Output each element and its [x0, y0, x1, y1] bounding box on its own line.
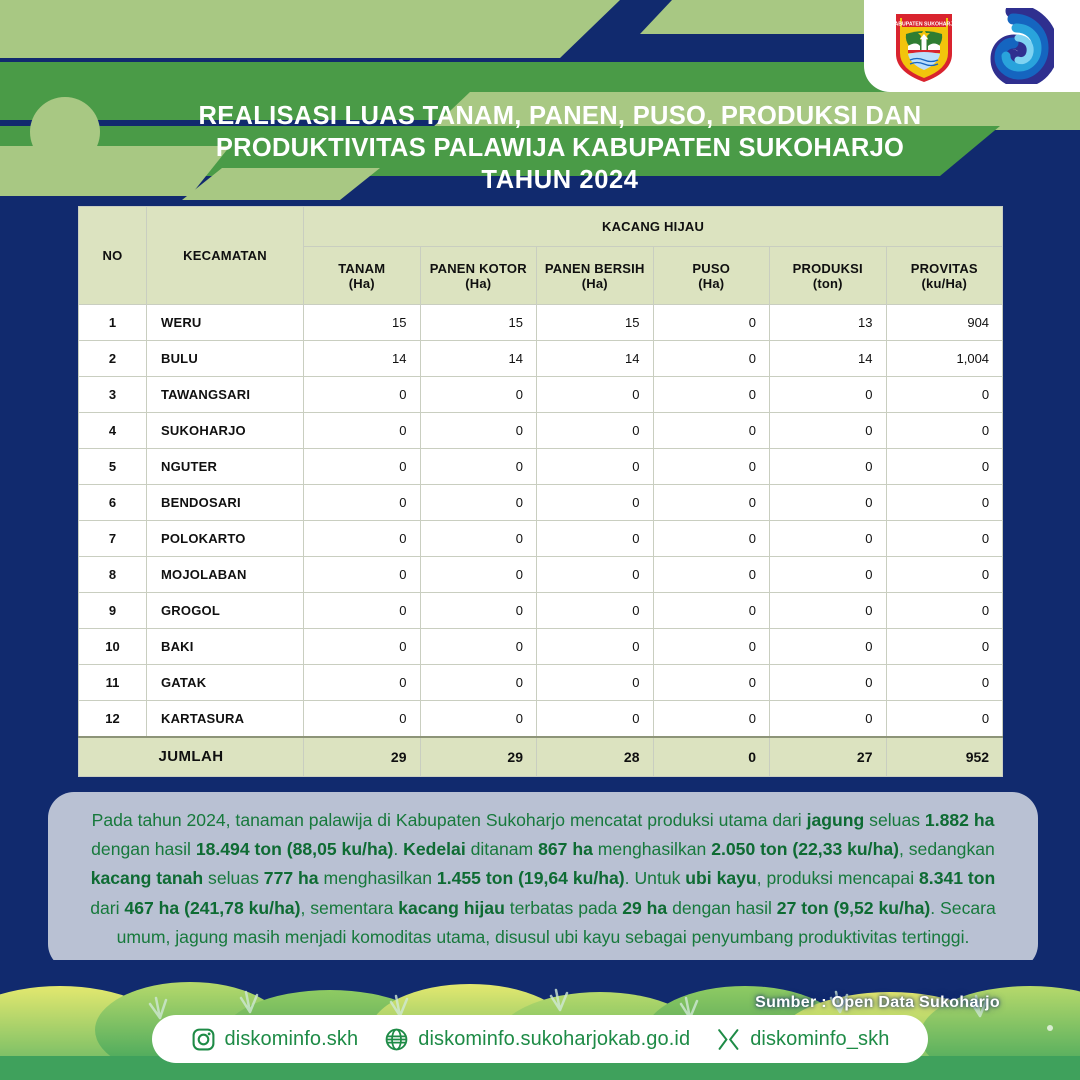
cell-value-4: 0	[770, 377, 887, 413]
header-no: NO	[79, 207, 147, 305]
cell-value-5: 1,004	[886, 341, 1003, 377]
cell-no: 12	[79, 701, 147, 737]
cell-value-1: 0	[420, 593, 537, 629]
total-value-5: 952	[886, 737, 1003, 777]
table-total-row: JUMLAH292928027952	[79, 737, 1003, 777]
cell-value-4: 0	[770, 557, 887, 593]
total-label: JUMLAH	[79, 737, 304, 777]
cell-value-2: 0	[537, 521, 654, 557]
cell-value-4: 0	[770, 413, 887, 449]
cell-value-4: 14	[770, 341, 887, 377]
kominfo-logo	[972, 8, 1054, 84]
cell-value-0: 0	[304, 377, 421, 413]
cell-no: 4	[79, 413, 147, 449]
header-panen-bersih: PANEN BERSIH (Ha)	[537, 247, 654, 305]
cell-value-4: 0	[770, 701, 887, 737]
table-row: 1WERU151515013904	[79, 305, 1003, 341]
cell-kecamatan: GATAK	[147, 665, 304, 701]
cell-value-2: 0	[537, 485, 654, 521]
cell-value-1: 0	[420, 413, 537, 449]
cell-value-0: 0	[304, 557, 421, 593]
cell-value-1: 0	[420, 665, 537, 701]
cell-value-0: 0	[304, 629, 421, 665]
cell-value-3: 0	[653, 449, 770, 485]
table-row: 12KARTASURA000000	[79, 701, 1003, 737]
cell-value-3: 0	[653, 521, 770, 557]
cell-no: 10	[79, 629, 147, 665]
table-row: 4SUKOHARJO000000	[79, 413, 1003, 449]
table-row: 6BENDOSARI000000	[79, 485, 1003, 521]
cell-value-0: 0	[304, 413, 421, 449]
title-line-3: TAHUN 2024	[120, 164, 1000, 196]
cell-value-4: 0	[770, 629, 887, 665]
cell-value-1: 0	[420, 449, 537, 485]
cell-value-1: 0	[420, 629, 537, 665]
cell-kecamatan: NGUTER	[147, 449, 304, 485]
cell-value-2: 0	[537, 557, 654, 593]
total-value-2: 28	[537, 737, 654, 777]
cell-no: 1	[79, 305, 147, 341]
cell-value-1: 15	[420, 305, 537, 341]
kabupaten-sukoharjo-emblem: KABUPATEN SUKOHARJO	[890, 8, 958, 84]
cell-value-1: 0	[420, 485, 537, 521]
cell-value-2: 14	[537, 341, 654, 377]
social-item-instagram[interactable]: diskominfo.skh	[191, 1027, 359, 1052]
cell-no: 2	[79, 341, 147, 377]
cell-kecamatan: BAKI	[147, 629, 304, 665]
cell-value-5: 0	[886, 485, 1003, 521]
table-body: 1WERU1515150139042BULU1414140141,0043TAW…	[79, 305, 1003, 777]
cell-value-5: 0	[886, 413, 1003, 449]
cell-kecamatan: BULU	[147, 341, 304, 377]
total-value-0: 29	[304, 737, 421, 777]
cell-value-0: 0	[304, 665, 421, 701]
source-label: Sumber : Open Data Sukoharjo	[755, 994, 1000, 1012]
cell-value-2: 0	[537, 593, 654, 629]
cell-value-5: 0	[886, 521, 1003, 557]
cell-value-3: 0	[653, 629, 770, 665]
header-kecamatan: KECAMATAN	[147, 207, 304, 305]
header-tanam: TANAM (Ha)	[304, 247, 421, 305]
cell-value-2: 0	[537, 629, 654, 665]
cell-value-3: 0	[653, 701, 770, 737]
website-url: diskominfo.sukoharjokab.go.id	[418, 1028, 690, 1051]
cell-kecamatan: SUKOHARJO	[147, 413, 304, 449]
cell-value-0: 0	[304, 485, 421, 521]
cell-no: 3	[79, 377, 147, 413]
cell-value-4: 0	[770, 665, 887, 701]
logo-plate: KABUPATEN SUKOHARJO	[864, 0, 1080, 92]
table-row: 2BULU1414140141,004	[79, 341, 1003, 377]
cell-value-5: 0	[886, 701, 1003, 737]
summary-paragraph: Pada tahun 2024, tanaman palawija di Kab…	[48, 792, 1038, 970]
instagram-handle: diskominfo.skh	[225, 1028, 359, 1051]
cell-value-2: 0	[537, 377, 654, 413]
cell-value-3: 0	[653, 413, 770, 449]
table-row: 10BAKI000000	[79, 629, 1003, 665]
cell-value-5: 0	[886, 377, 1003, 413]
total-value-3: 0	[653, 737, 770, 777]
cell-value-4: 13	[770, 305, 887, 341]
total-value-4: 27	[770, 737, 887, 777]
cell-no: 5	[79, 449, 147, 485]
cell-no: 8	[79, 557, 147, 593]
cell-value-5: 0	[886, 629, 1003, 665]
globe-icon	[384, 1027, 409, 1052]
cell-value-4: 0	[770, 521, 887, 557]
cell-value-0: 0	[304, 701, 421, 737]
cell-value-0: 0	[304, 449, 421, 485]
header-group-kacang-hijau: KACANG HIJAU	[304, 207, 1003, 247]
cell-value-3: 0	[653, 305, 770, 341]
social-links-bar: diskominfo.skh diskominfo.sukoharjokab.g…	[152, 1015, 928, 1063]
header-panen-kotor: PANEN KOTOR (Ha)	[420, 247, 537, 305]
cell-value-5: 0	[886, 557, 1003, 593]
cell-value-2: 0	[537, 701, 654, 737]
cell-value-1: 0	[420, 521, 537, 557]
data-table-container: NO KECAMATAN KACANG HIJAU TANAM (Ha) PAN…	[78, 206, 1003, 777]
cell-value-3: 0	[653, 485, 770, 521]
cell-value-0: 14	[304, 341, 421, 377]
cell-value-2: 15	[537, 305, 654, 341]
total-value-1: 29	[420, 737, 537, 777]
table-row: 9GROGOL000000	[79, 593, 1003, 629]
cell-value-5: 904	[886, 305, 1003, 341]
cell-kecamatan: GROGOL	[147, 593, 304, 629]
cell-kecamatan: POLOKARTO	[147, 521, 304, 557]
cell-value-3: 0	[653, 665, 770, 701]
x-twitter-icon	[716, 1027, 741, 1052]
cell-no: 11	[79, 665, 147, 701]
cell-value-5: 0	[886, 593, 1003, 629]
cell-value-3: 0	[653, 557, 770, 593]
data-table: NO KECAMATAN KACANG HIJAU TANAM (Ha) PAN…	[78, 206, 1003, 777]
cell-value-5: 0	[886, 665, 1003, 701]
table-head: NO KECAMATAN KACANG HIJAU TANAM (Ha) PAN…	[79, 207, 1003, 305]
x-handle: diskominfo_skh	[750, 1028, 889, 1051]
table-row: 11GATAK000000	[79, 665, 1003, 701]
instagram-icon	[191, 1027, 216, 1052]
cell-value-2: 0	[537, 449, 654, 485]
header-provitas: PROVITAS (ku/Ha)	[886, 247, 1003, 305]
cell-value-5: 0	[886, 449, 1003, 485]
table-row: 7POLOKARTO000000	[79, 521, 1003, 557]
cell-value-1: 14	[420, 341, 537, 377]
svg-text:KABUPATEN SUKOHARJO: KABUPATEN SUKOHARJO	[891, 21, 957, 27]
circle-decoration	[30, 97, 100, 167]
infographic-canvas: KABUPATEN SUKOHARJO REALISASI LUAS TANAM…	[0, 0, 1080, 1080]
cell-kecamatan: WERU	[147, 305, 304, 341]
cell-value-4: 0	[770, 485, 887, 521]
cell-kecamatan: KARTASURA	[147, 701, 304, 737]
cell-value-2: 0	[537, 665, 654, 701]
header-puso: PUSO (Ha)	[653, 247, 770, 305]
cell-kecamatan: TAWANGSARI	[147, 377, 304, 413]
social-item-x[interactable]: diskominfo_skh	[716, 1027, 889, 1052]
table-row: 3TAWANGSARI000000	[79, 377, 1003, 413]
table-row: 5NGUTER000000	[79, 449, 1003, 485]
title-line-2: PRODUKTIVITAS PALAWIJA KABUPATEN SUKOHAR…	[120, 132, 1000, 164]
page-title: REALISASI LUAS TANAM, PANEN, PUSO, PRODU…	[120, 100, 1000, 196]
cell-no: 9	[79, 593, 147, 629]
cell-value-0: 15	[304, 305, 421, 341]
cell-value-1: 0	[420, 377, 537, 413]
cell-value-3: 0	[653, 341, 770, 377]
cell-no: 6	[79, 485, 147, 521]
cell-value-0: 0	[304, 593, 421, 629]
cell-value-3: 0	[653, 377, 770, 413]
cell-kecamatan: MOJOLABAN	[147, 557, 304, 593]
cell-value-2: 0	[537, 413, 654, 449]
title-line-1: REALISASI LUAS TANAM, PANEN, PUSO, PRODU…	[120, 100, 1000, 132]
cell-value-1: 0	[420, 701, 537, 737]
header-produksi: PRODUKSI (ton)	[770, 247, 887, 305]
cell-value-1: 0	[420, 557, 537, 593]
social-item-website[interactable]: diskominfo.sukoharjokab.go.id	[384, 1027, 690, 1052]
cell-value-3: 0	[653, 593, 770, 629]
cell-value-0: 0	[304, 521, 421, 557]
cell-kecamatan: BENDOSARI	[147, 485, 304, 521]
cell-value-4: 0	[770, 449, 887, 485]
cell-no: 7	[79, 521, 147, 557]
table-row: 8MOJOLABAN000000	[79, 557, 1003, 593]
cell-value-4: 0	[770, 593, 887, 629]
